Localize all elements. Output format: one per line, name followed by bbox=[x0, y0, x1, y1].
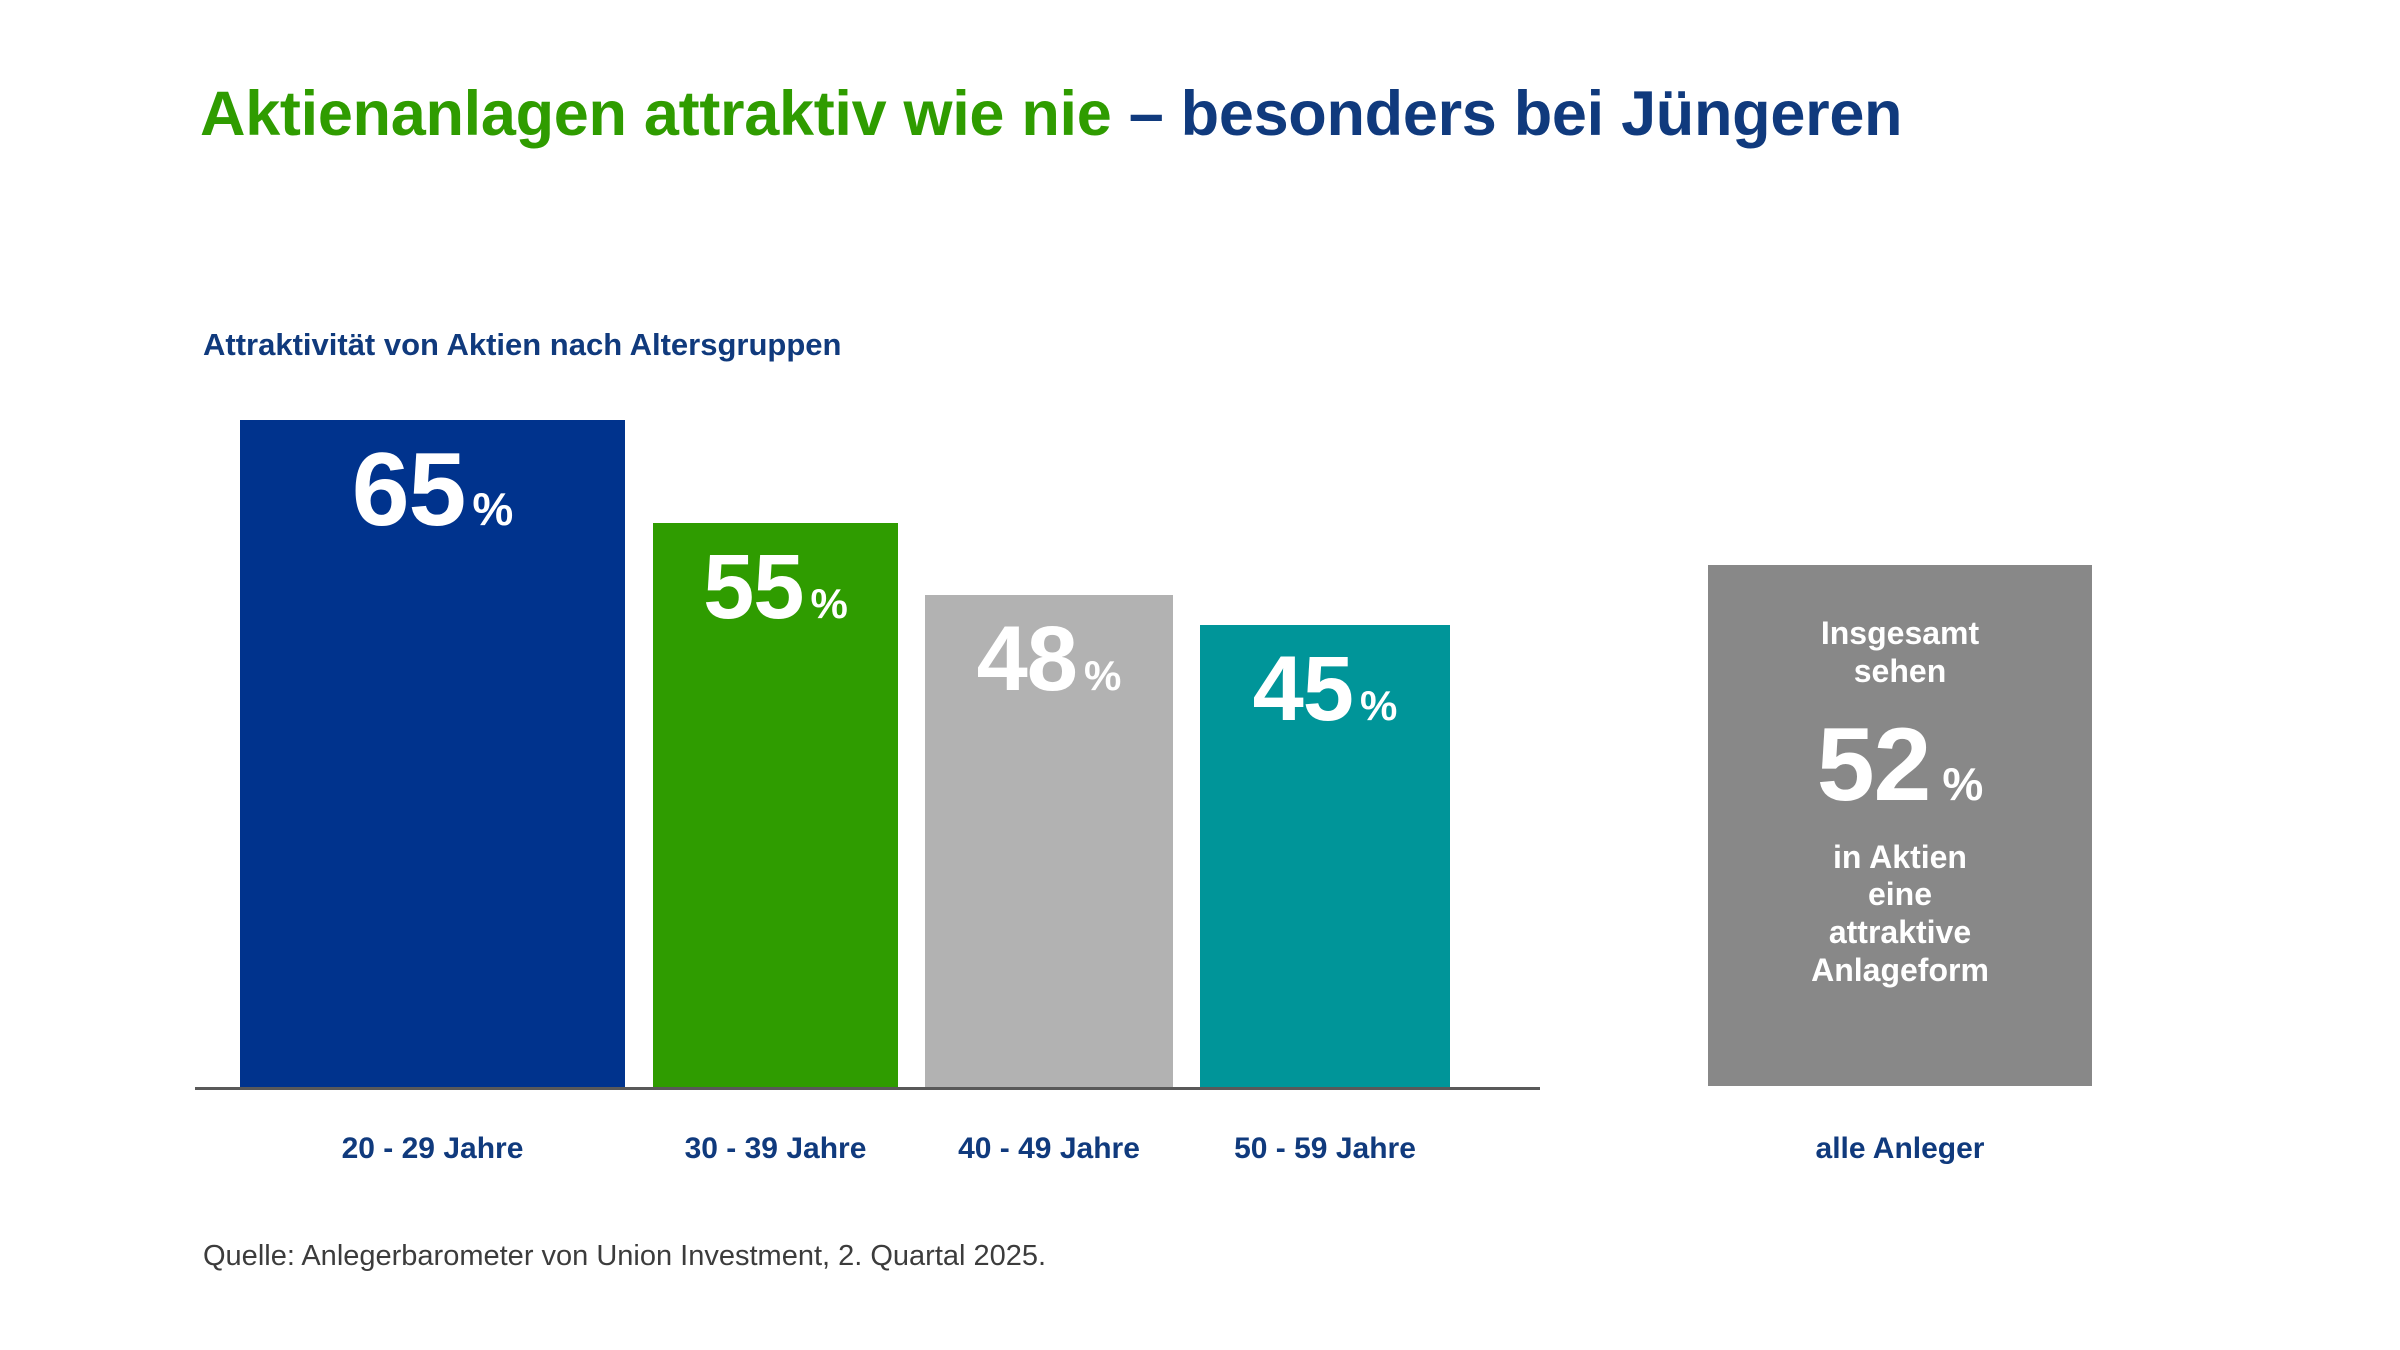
total-value-percent: % bbox=[1942, 761, 1983, 807]
bar-value-50-59: 45% bbox=[1253, 625, 1398, 735]
x-axis-baseline bbox=[195, 1087, 1540, 1090]
bar-value-number: 45 bbox=[1253, 643, 1353, 735]
chart-subtitle: Attraktivität von Aktien nach Altersgrup… bbox=[203, 327, 841, 363]
bar-value-number: 65 bbox=[352, 438, 466, 542]
total-box-top-text: Insgesamt sehen bbox=[1821, 615, 1979, 691]
x-axis-label-40-49: 40 - 49 Jahre bbox=[925, 1132, 1173, 1166]
bar-20-29: 65% bbox=[240, 420, 625, 1087]
bar-value-percent: % bbox=[1360, 685, 1397, 727]
page-title-green-part: Aktienanlagen attraktiv wie nie bbox=[200, 79, 1129, 149]
bar-value-percent: % bbox=[810, 583, 847, 625]
x-axis-label-50-59: 50 - 59 Jahre bbox=[1200, 1132, 1450, 1166]
bar-value-number: 48 bbox=[977, 613, 1077, 705]
bar-30-39: 55% bbox=[653, 523, 898, 1087]
x-axis-label-20-29: 20 - 29 Jahre bbox=[240, 1132, 625, 1166]
source-note: Quelle: Anlegerbarometer von Union Inves… bbox=[203, 1240, 1046, 1273]
total-value-number: 52 bbox=[1817, 713, 1931, 817]
bar-value-percent: % bbox=[1084, 655, 1121, 697]
bar-value-20-29: 65% bbox=[352, 420, 514, 542]
bar-value-number: 55 bbox=[703, 541, 803, 633]
page-title-blue-part: – besonders bei Jüngeren bbox=[1129, 79, 1903, 149]
total-box-caption: alle Anleger bbox=[1708, 1132, 2092, 1166]
bar-40-49: 48% bbox=[925, 595, 1173, 1087]
total-summary-box: Insgesamt sehen 52% in Aktien eine attra… bbox=[1708, 565, 2092, 1086]
x-axis-labels: 20 - 29 Jahre 30 - 39 Jahre 40 - 49 Jahr… bbox=[195, 1132, 1545, 1182]
total-box-bottom-text: in Aktien eine attraktive Anlageform bbox=[1811, 839, 1989, 990]
total-box-value: 52% bbox=[1817, 713, 1984, 817]
bar-value-40-49: 48% bbox=[977, 595, 1122, 705]
bar-50-59: 45% bbox=[1200, 625, 1450, 1087]
x-axis-label-30-39: 30 - 39 Jahre bbox=[653, 1132, 898, 1166]
bar-value-percent: % bbox=[472, 486, 513, 532]
bar-chart-plot-area: 65% 55% 48% 45% bbox=[195, 420, 1545, 1090]
chart-page: Aktienanlagen attraktiv wie nie – besond… bbox=[0, 0, 2400, 1350]
bar-value-30-39: 55% bbox=[703, 523, 848, 633]
page-title: Aktienanlagen attraktiv wie nie – besond… bbox=[200, 78, 1902, 150]
